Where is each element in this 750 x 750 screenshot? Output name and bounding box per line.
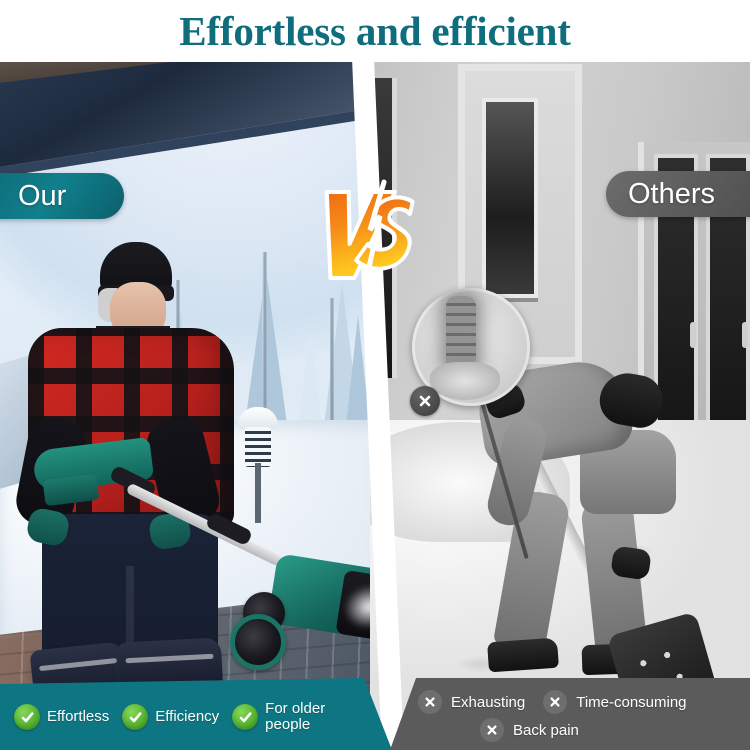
comparison-stage: Our Others bbox=[0, 62, 750, 750]
others-manual-photo bbox=[370, 62, 750, 750]
cons-row: Exhausting Time-consuming bbox=[418, 690, 746, 714]
tall-window bbox=[482, 98, 538, 298]
front-wheel bbox=[230, 614, 286, 670]
badge-others: Others bbox=[606, 171, 750, 217]
garden-lamp bbox=[236, 407, 280, 473]
spine-illustration bbox=[446, 296, 476, 370]
check-circle-icon bbox=[14, 704, 40, 730]
con-label: Exhausting bbox=[451, 694, 525, 711]
page-title: Effortless and efficient bbox=[179, 11, 570, 52]
con-label: Back pain bbox=[513, 722, 579, 739]
left-panel bbox=[0, 62, 380, 750]
check-circle-icon bbox=[232, 704, 258, 730]
vs-emblem bbox=[318, 186, 422, 282]
badge-our-label: Our bbox=[18, 180, 66, 213]
check-circle-icon bbox=[122, 704, 148, 730]
worker-left-boot bbox=[487, 638, 559, 673]
our-product-photo bbox=[0, 62, 380, 750]
x-circle-icon bbox=[410, 386, 440, 416]
badge-others-label: Others bbox=[628, 178, 715, 211]
cons-row: Back pain bbox=[418, 718, 746, 742]
con-item: Back pain bbox=[480, 718, 579, 742]
con-label: Time-consuming bbox=[576, 694, 686, 711]
badge-our: Our bbox=[0, 173, 124, 219]
comparison-poster: Effortless and efficient bbox=[0, 0, 750, 750]
pro-item: Efficiency bbox=[122, 704, 219, 730]
pro-item: Effortless bbox=[14, 704, 109, 730]
con-item: Time-consuming bbox=[543, 690, 686, 714]
pro-item: For older people bbox=[232, 701, 339, 733]
x-circle-icon bbox=[480, 718, 504, 742]
cons-footer: Exhausting Time-consuming bbox=[390, 678, 750, 750]
pro-label: For older people bbox=[265, 701, 339, 733]
pros-footer: Effortless Efficiency bbox=[0, 678, 392, 750]
pro-label: Efficiency bbox=[155, 709, 219, 725]
x-circle-icon bbox=[543, 690, 567, 714]
pelvis-illustration bbox=[430, 362, 500, 400]
right-panel bbox=[370, 62, 750, 750]
title-bar: Effortless and efficient bbox=[0, 0, 750, 62]
x-circle-icon bbox=[418, 690, 442, 714]
worker-lower-glove bbox=[610, 546, 652, 581]
pro-label: Effortless bbox=[47, 709, 109, 725]
con-item: Exhausting bbox=[418, 690, 525, 714]
